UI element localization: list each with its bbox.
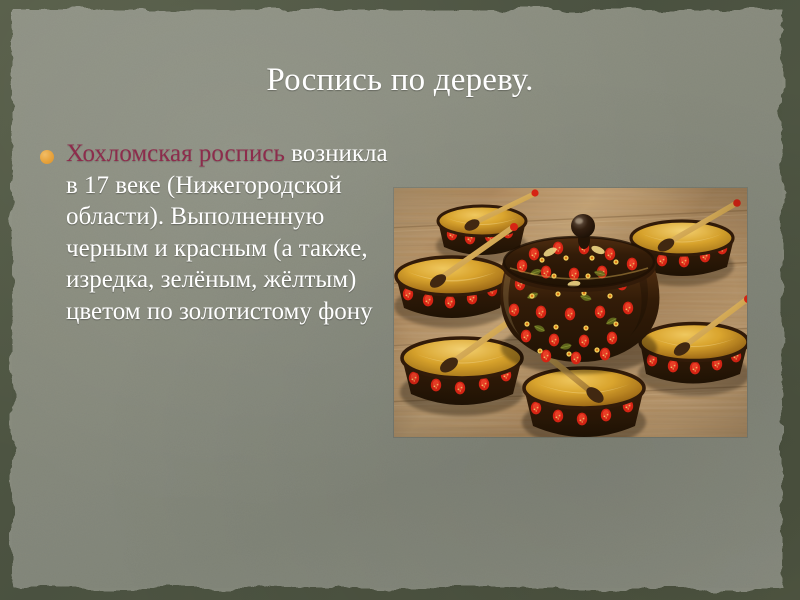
khokhloma-illustration [394, 188, 747, 437]
body-paragraph: Хохломская роспись возникла в 17 веке (Н… [66, 138, 390, 327]
body-content-block: Хохломская роспись возникла в 17 веке (Н… [38, 138, 390, 327]
khokhloma-photo [394, 188, 747, 437]
orange-dot-bullet-icon [40, 150, 54, 164]
body-rest: возникла в 17 веке (Нижегородской област… [66, 140, 388, 325]
lead-phrase: Хохломская роспись [66, 140, 285, 167]
bullet-list-item: Хохломская роспись возникла в 17 веке (Н… [38, 138, 390, 327]
page-title: Роспись по дереву. [60, 58, 740, 102]
presentation-slide: Роспись по дереву. Хохломская роспись во… [0, 0, 800, 600]
